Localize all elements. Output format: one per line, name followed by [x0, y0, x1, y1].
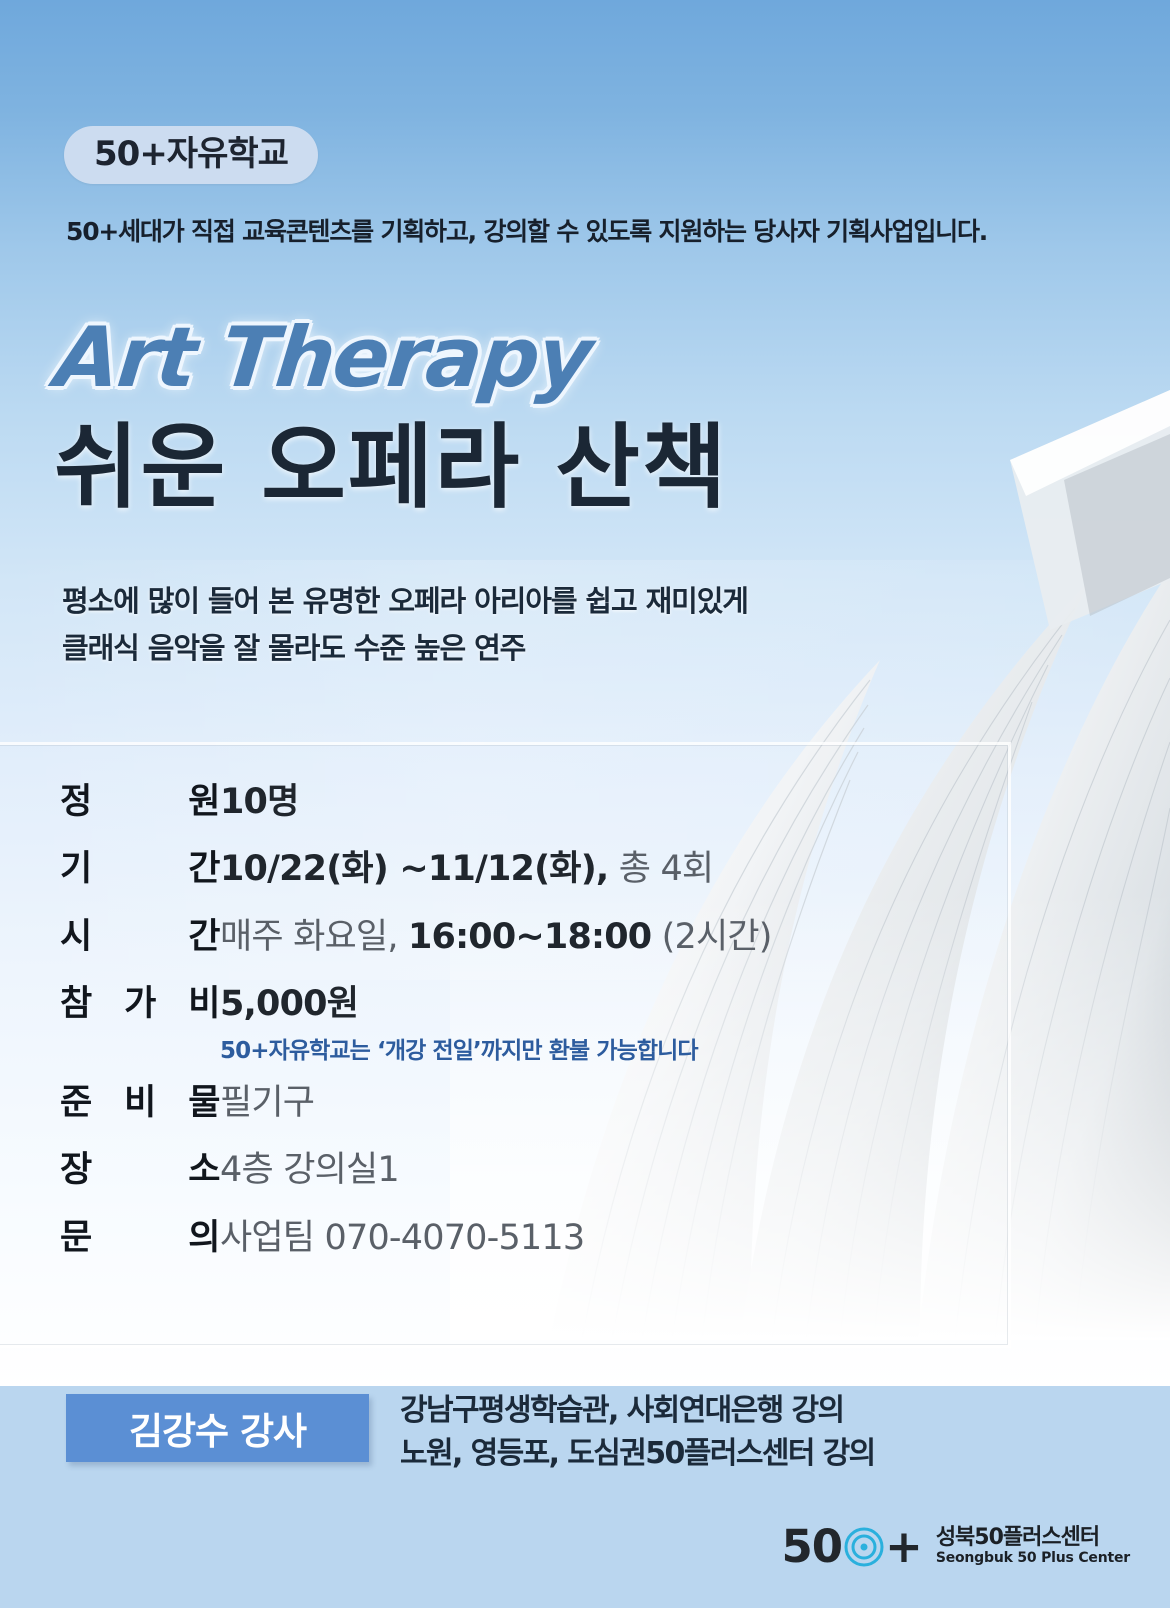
logo-name-korean: 성북50플러스센터	[936, 1526, 1130, 1551]
info-row-period: 기 간 10/22(화) ~11/12(화), 총 4회	[60, 849, 960, 890]
logo-mark: 50 +	[781, 1524, 921, 1569]
poster-root: 50+자유학교 50+세대가 직접 교육콘텐츠를 기획하고, 강의할 수 있도록…	[0, 0, 1170, 1608]
logo-name-english: Seongbuk 50 Plus Center	[936, 1551, 1130, 1567]
info-label-supplies: 준 비 물	[60, 1083, 220, 1124]
tagline-line-2: 클래식 음악을 잘 몰라도 수준 높은 연주	[62, 625, 962, 672]
info-row-supplies: 준 비 물 필기구	[60, 1083, 960, 1124]
instructor-bio: 강남구평생학습관, 사회연대은행 강의 노원, 영등포, 도심권50플러스센터 …	[400, 1390, 1040, 1475]
info-label-capacity: 정 원	[60, 782, 220, 823]
info-list: 정 원 10명 기 간 10/22(화) ~11/12(화), 총 4회 시 간…	[60, 782, 960, 1285]
program-badge: 50+자유학교	[64, 126, 318, 184]
instructor-name-badge: 김강수 강사	[66, 1394, 369, 1462]
logo-text: 성북50플러스센터 Seongbuk 50 Plus Center	[936, 1526, 1130, 1566]
tagline-line-1: 평소에 많이 들어 본 유명한 오페라 아리아를 쉽고 재미있게	[62, 578, 962, 625]
logo-mark-plus: +	[885, 1524, 922, 1569]
info-value-contact: 사업팀 070-4070-5113	[220, 1218, 584, 1259]
refund-policy-note: 50+자유학교는 ‘개강 전일’까지만 환불 가능합니다	[220, 1031, 960, 1065]
concentric-circle-icon	[844, 1527, 883, 1566]
organization-logo: 50 + 성북50플러스센터 Seongbuk 50 Plus Center	[781, 1524, 1130, 1569]
program-description: 50+세대가 직접 교육콘텐츠를 기획하고, 강의할 수 있도록 지원하는 당사…	[66, 212, 1086, 248]
info-row-capacity: 정 원 10명	[60, 782, 960, 823]
info-row-time: 시 간 매주 화요일, 16:00~18:00 (2시간)	[60, 917, 960, 958]
info-label-period: 기 간	[60, 849, 220, 890]
instructor-bio-line-1: 강남구평생학습관, 사회연대은행 강의	[400, 1390, 1040, 1433]
info-label-contact: 문 의	[60, 1218, 220, 1259]
info-row-contact: 문 의 사업팀 070-4070-5113	[60, 1218, 960, 1259]
info-value-fee: 5,000원	[220, 984, 358, 1025]
logo-mark-50: 50	[781, 1524, 842, 1569]
info-value-time: 매주 화요일, 16:00~18:00 (2시간)	[220, 917, 772, 958]
info-row-location: 장 소 4층 강의실1	[60, 1150, 960, 1191]
info-value-location: 4층 강의실1	[220, 1150, 399, 1191]
tagline: 평소에 많이 들어 본 유명한 오페라 아리아를 쉽고 재미있게 클래식 음악을…	[62, 578, 962, 672]
title-korean: 쉬운 오페라 산책	[54, 416, 729, 519]
title-english: Art Therapy	[52, 316, 595, 399]
info-label-time: 시 간	[60, 917, 220, 958]
info-value-capacity: 10명	[220, 782, 299, 823]
instructor-bio-line-2: 노원, 영등포, 도심권50플러스센터 강의	[400, 1433, 1040, 1476]
info-value-period: 10/22(화) ~11/12(화), 총 4회	[220, 849, 713, 890]
info-label-location: 장 소	[60, 1150, 220, 1191]
info-label-fee: 참 가 비	[60, 984, 220, 1025]
info-value-supplies: 필기구	[220, 1083, 314, 1124]
info-row-fee: 참 가 비 5,000원	[60, 984, 960, 1025]
